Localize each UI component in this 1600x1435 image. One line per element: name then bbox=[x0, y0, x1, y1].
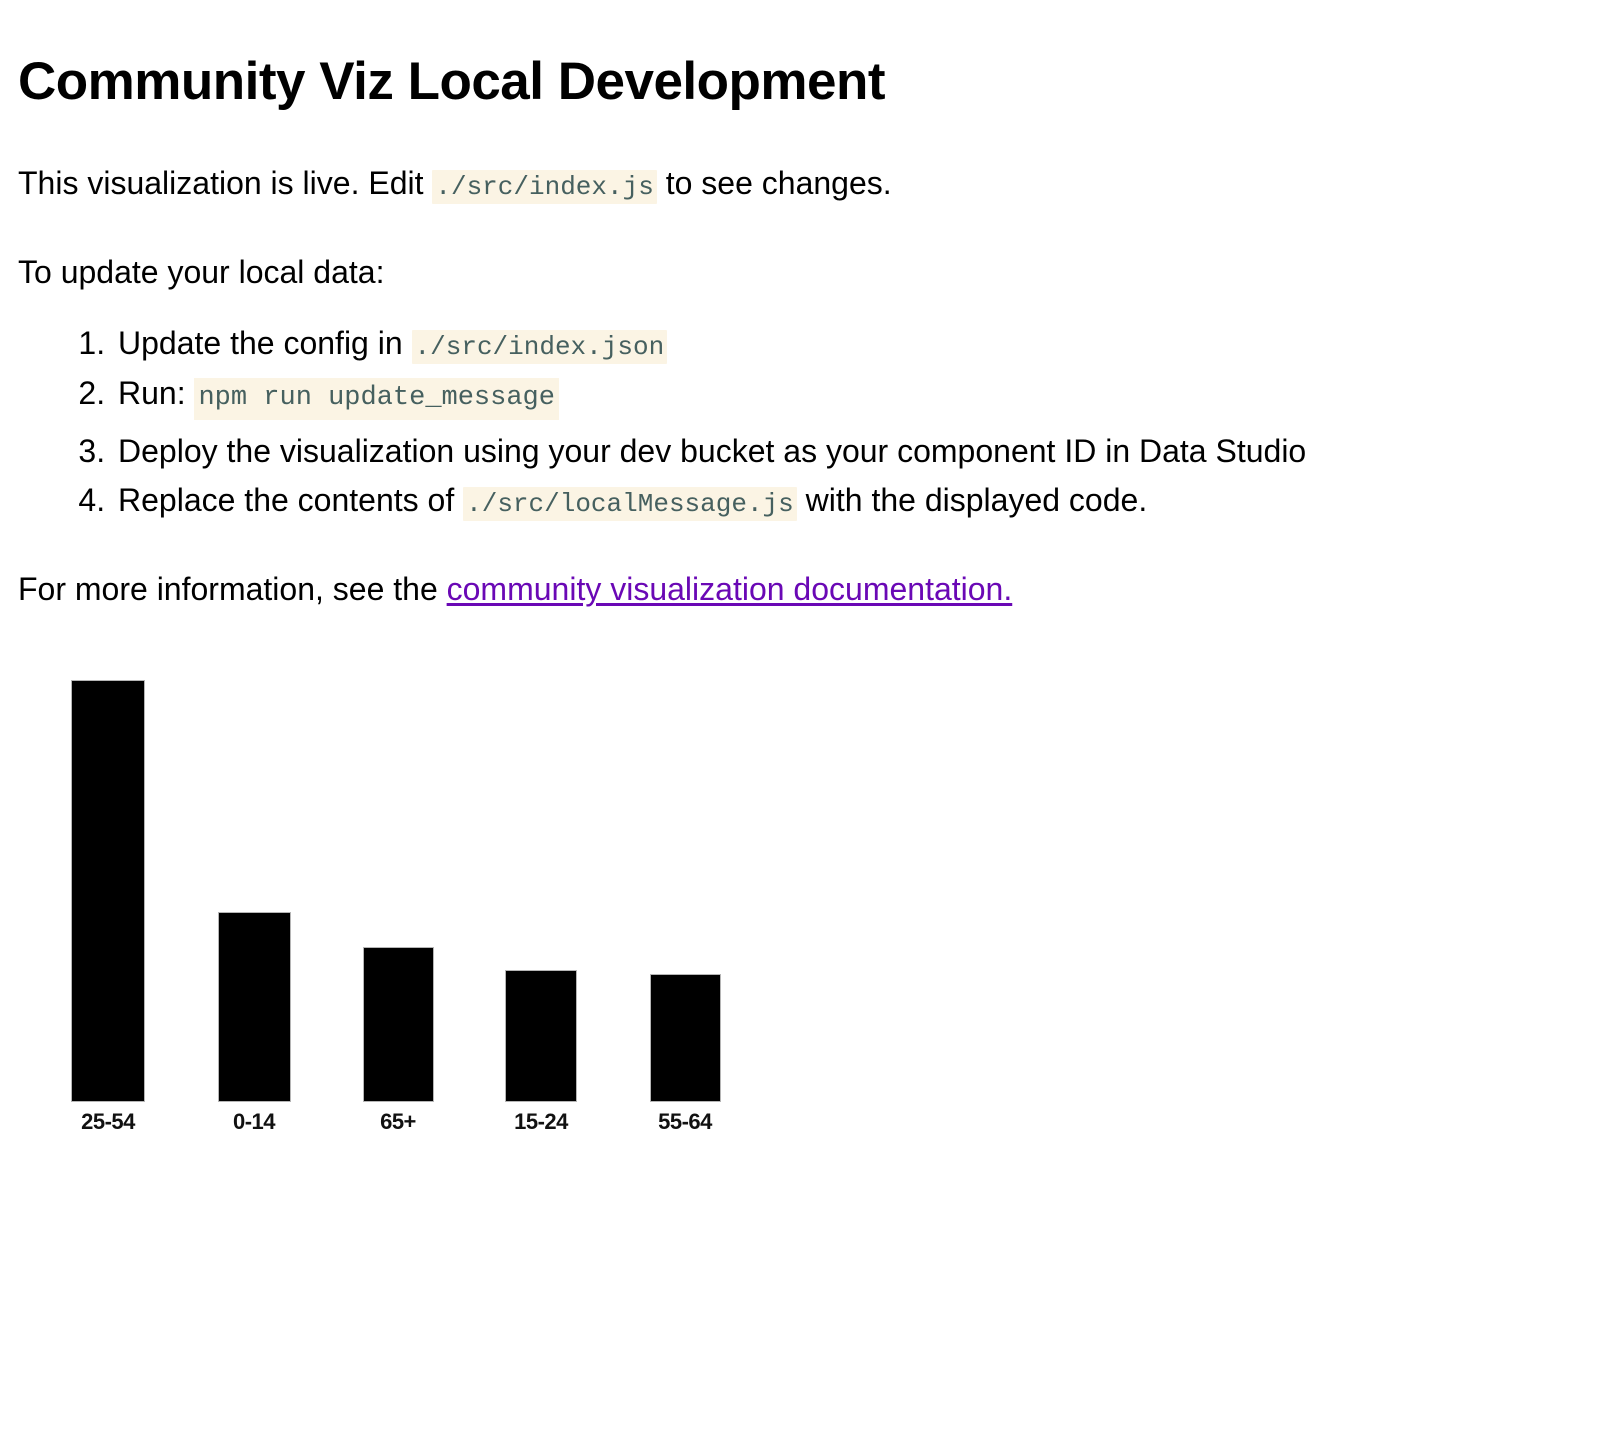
x-tick-label: 25-54 bbox=[48, 1109, 168, 1135]
intro-text-before: This visualization is live. Edit bbox=[18, 165, 432, 201]
step-2-text: Run: bbox=[118, 375, 186, 411]
bar bbox=[71, 680, 145, 1102]
x-tick-label: 65+ bbox=[338, 1109, 458, 1135]
code-block-npm-run: npm run update_message bbox=[194, 378, 558, 420]
chart-x-axis-labels: 25-540-1465+15-2455-64 bbox=[53, 1109, 793, 1149]
bar-chart: 25-540-1465+15-2455-64 bbox=[53, 647, 793, 1167]
steps-list: Update the config in ./src/index.json Ru… bbox=[18, 320, 1582, 524]
list-item: Update the config in ./src/index.json bbox=[114, 320, 1582, 367]
x-tick-label: 15-24 bbox=[481, 1109, 601, 1135]
bar bbox=[505, 970, 577, 1102]
step-1-text-before: Update the config in bbox=[118, 325, 412, 361]
inline-code-local-message-js: ./src/localMessage.js bbox=[463, 487, 797, 521]
inline-code-index-js: ./src/index.js bbox=[432, 170, 656, 204]
update-heading: To update your local data: bbox=[18, 251, 1582, 294]
inline-code-index-json: ./src/index.json bbox=[412, 330, 668, 364]
document-root: Community Viz Local Development This vis… bbox=[0, 0, 1600, 1167]
x-tick-label: 55-64 bbox=[625, 1109, 745, 1135]
step-4-text-after: with the displayed code. bbox=[797, 482, 1147, 518]
bar bbox=[218, 912, 291, 1102]
community-visualization-documentation-link[interactable]: community visualization documentation. bbox=[447, 571, 1013, 607]
list-item: Run: npm run update_message bbox=[114, 368, 1582, 426]
list-item: Deploy the visualization using your dev … bbox=[114, 428, 1582, 474]
x-tick-label: 0-14 bbox=[194, 1109, 314, 1135]
page-title: Community Viz Local Development bbox=[18, 0, 1582, 111]
step-3-text: Deploy the visualization using your dev … bbox=[118, 433, 1306, 469]
intro-paragraph: This visualization is live. Edit ./src/i… bbox=[18, 162, 1582, 205]
bar bbox=[650, 974, 721, 1102]
footer-text-before: For more information, see the bbox=[18, 571, 447, 607]
bar bbox=[363, 947, 434, 1102]
step-4-text-before: Replace the contents of bbox=[118, 482, 463, 518]
intro-text-after: to see changes. bbox=[657, 165, 892, 201]
footer-paragraph: For more information, see the community … bbox=[18, 568, 1582, 611]
list-item: Replace the contents of ./src/localMessa… bbox=[114, 477, 1582, 524]
chart-plot-area bbox=[53, 647, 793, 1102]
